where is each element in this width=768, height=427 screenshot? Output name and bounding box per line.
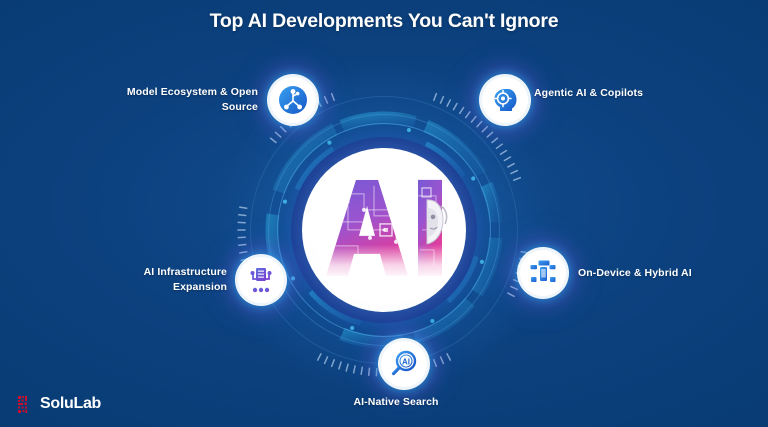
- center-disc: [302, 148, 466, 312]
- page-title: Top AI Developments You Can't Ignore: [0, 10, 768, 33]
- device-network-icon: [528, 258, 558, 288]
- solulab-qr-mark-icon: [18, 396, 35, 413]
- magnifier-ai-icon: AI: [389, 349, 419, 379]
- node-label-agentic-ai: Agentic AI & Copilots: [534, 86, 734, 101]
- node-label-ai-infrastructure: AI Infrastructure Expansion: [95, 265, 227, 295]
- node-label-on-device-ai: On-Device & Hybrid AI: [578, 266, 768, 281]
- node-label-model-ecosystem: Model Ecosystem & Open Source: [88, 85, 258, 115]
- logo-text: SoluLab: [40, 395, 101, 413]
- logo[interactable]: SoluLab: [18, 395, 101, 413]
- node-model-ecosystem[interactable]: [270, 77, 316, 123]
- network-nodes-icon: [278, 85, 308, 115]
- node-ai-native-search[interactable]: AI: [381, 341, 427, 387]
- svg-text:AI: AI: [402, 357, 410, 366]
- node-label-ai-native-search: AI-Native Search: [316, 395, 476, 410]
- node-agentic-ai[interactable]: [482, 77, 528, 123]
- infographic-canvas: Top AI Developments You Can't Ignore: [0, 0, 768, 427]
- ai-wordmark-icon: [318, 176, 450, 280]
- node-on-device-ai[interactable]: [520, 250, 566, 296]
- ai-head-gear-icon: [490, 85, 520, 115]
- node-ai-infrastructure[interactable]: [238, 257, 284, 303]
- server-rack-icon: [246, 265, 276, 295]
